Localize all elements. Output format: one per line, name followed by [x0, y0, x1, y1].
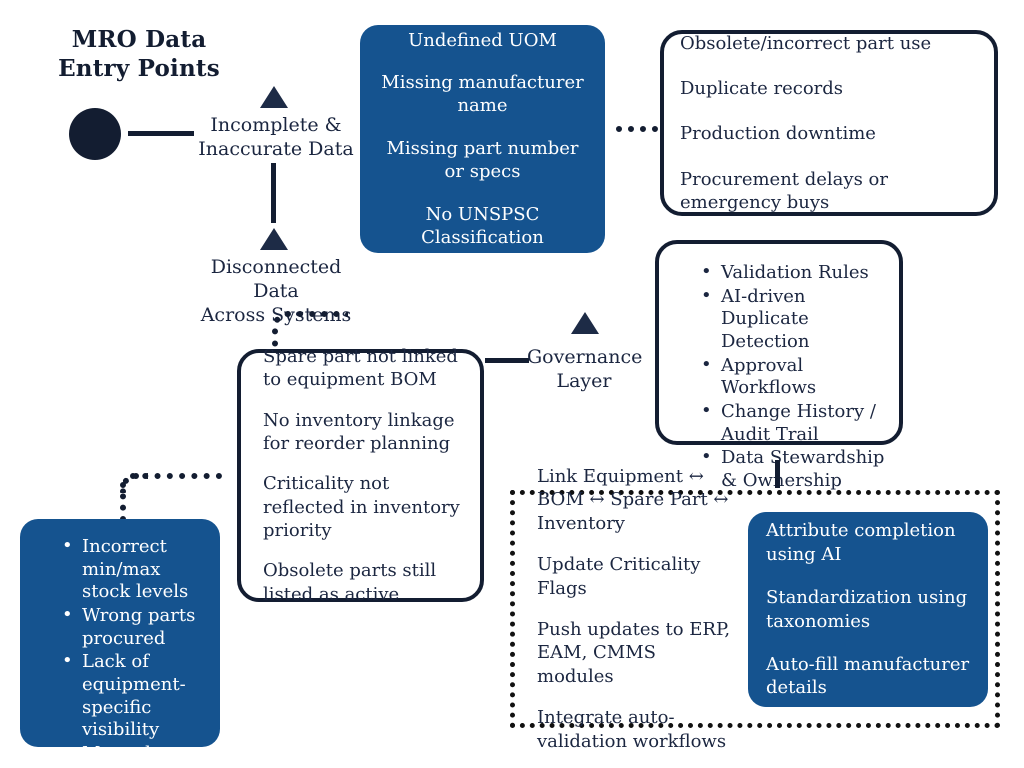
integration-actions-item: Update Criticality Flags — [537, 553, 736, 600]
linkage-gaps-item: No inventory linkage for reorder plannin… — [263, 409, 464, 456]
impacts-list: Obsolete/incorrect part use Duplicate re… — [664, 34, 994, 212]
stage-1-label-line-2: Inaccurate Data — [193, 137, 359, 161]
governance-controls-box: Validation Rules AI-driven Duplicate Det… — [655, 240, 903, 445]
linkage-impacts-box: Incorrect min/max stock levels Wrong par… — [20, 519, 220, 747]
diagram-canvas: MRO Data Entry Points Incomplete & Inacc… — [0, 0, 1024, 768]
linkage-gaps-item: Obsolete parts still listed as active — [263, 559, 464, 606]
ai-enrichment-item: Attribute completion using AI — [766, 519, 970, 566]
connector-linkage-elbow-corner — [120, 473, 148, 493]
data-issues-list: Undefined UOM Missing manufacturer name … — [360, 25, 605, 253]
stage-1-label: Incomplete & Inaccurate Data — [193, 113, 359, 161]
stage-1-triangle-icon — [260, 86, 288, 108]
governance-controls-item: Data Stewardship & Ownership — [721, 447, 885, 492]
linkage-gaps-item: Criticality not reflected in inventory p… — [263, 472, 464, 542]
page-title: MRO Data Entry Points — [24, 26, 254, 84]
connector-linkage-gaps-to-stage-3 — [485, 358, 529, 363]
data-issues-item: Missing manufacturer name — [378, 71, 587, 118]
ai-enrichment-item: Standardization using taxonomies — [766, 586, 970, 633]
impacts-item: Duplicate records — [680, 77, 978, 100]
linkage-gaps-item: Spare part not linked to equipment BOM — [263, 345, 464, 392]
ai-enrichment-list: Attribute completion using AI Standardiz… — [748, 512, 988, 707]
linkage-impacts-item: Manual intervention for every update — [82, 743, 208, 768]
impacts-item: Procurement delays or emergency buys — [680, 168, 978, 215]
impacts-item: Production downtime — [680, 122, 978, 145]
integration-actions-item: Push updates to ERP, EAM, CMMS modules — [537, 618, 736, 688]
governance-controls-item: Validation Rules — [721, 262, 885, 285]
governance-controls-item: AI-driven Duplicate Detection — [721, 286, 885, 354]
ai-enrichment-box: Attribute completion using AI Standardiz… — [748, 512, 988, 707]
impacts-box: Obsolete/incorrect part use Duplicate re… — [660, 30, 998, 216]
linkage-gaps-box: Spare part not linked to equipment BOM N… — [237, 349, 484, 602]
data-issues-item: Missing part number or specs — [378, 137, 587, 184]
connector-data-issues-to-impacts — [616, 126, 658, 132]
connector-governance-to-integration — [775, 460, 780, 488]
stage-3-label-line-1: Governance — [527, 345, 641, 369]
data-issues-item: Undefined UOM — [378, 29, 587, 52]
data-issues-item: No UNSPSC Classification — [378, 203, 587, 250]
governance-controls-item: Change History / Audit Trail — [721, 401, 885, 446]
ai-enrichment-item: Auto-fill manufacturer details — [766, 653, 970, 700]
page-title-line-2: Entry Points — [24, 55, 254, 84]
root-node-dot — [69, 108, 121, 160]
stage-3-triangle-icon — [571, 312, 599, 334]
linkage-impacts-item: Wrong parts procured — [82, 605, 208, 650]
linkage-impacts-item: Lack of equipment-specific visibility — [82, 651, 208, 742]
governance-controls-list: Validation Rules AI-driven Duplicate Det… — [699, 262, 885, 493]
linkage-impacts-list: Incorrect min/max stock levels Wrong par… — [60, 536, 208, 768]
stage-2-triangle-icon — [260, 228, 288, 250]
stage-3-label-line-2: Layer — [527, 369, 641, 393]
connector-stage-1-to-stage-2 — [271, 163, 276, 223]
page-title-line-1: MRO Data — [24, 26, 254, 55]
impacts-item: Obsolete/incorrect part use — [680, 32, 978, 55]
stage-3-label: Governance Layer — [527, 345, 641, 393]
integration-actions-list: Link Equipment ↔ BOM ↔ Spare Part ↔ Inve… — [515, 495, 750, 723]
integration-actions-item: Link Equipment ↔ BOM ↔ Spare Part ↔ Inve… — [537, 465, 736, 535]
integration-actions-item: Integrate auto-validation workflows — [537, 706, 736, 753]
data-issues-box: Undefined UOM Missing manufacturer name … — [360, 25, 605, 253]
connector-root-to-stage-1 — [128, 131, 194, 136]
stage-2-label-line-1: Disconnected Data — [186, 255, 366, 303]
stage-1-label-line-1: Incomplete & — [193, 113, 359, 137]
governance-controls-item: Approval Workflows — [721, 355, 885, 400]
linkage-gaps-list: Spare part not linked to equipment BOM N… — [241, 353, 480, 598]
linkage-impacts-item: Incorrect min/max stock levels — [82, 536, 208, 604]
